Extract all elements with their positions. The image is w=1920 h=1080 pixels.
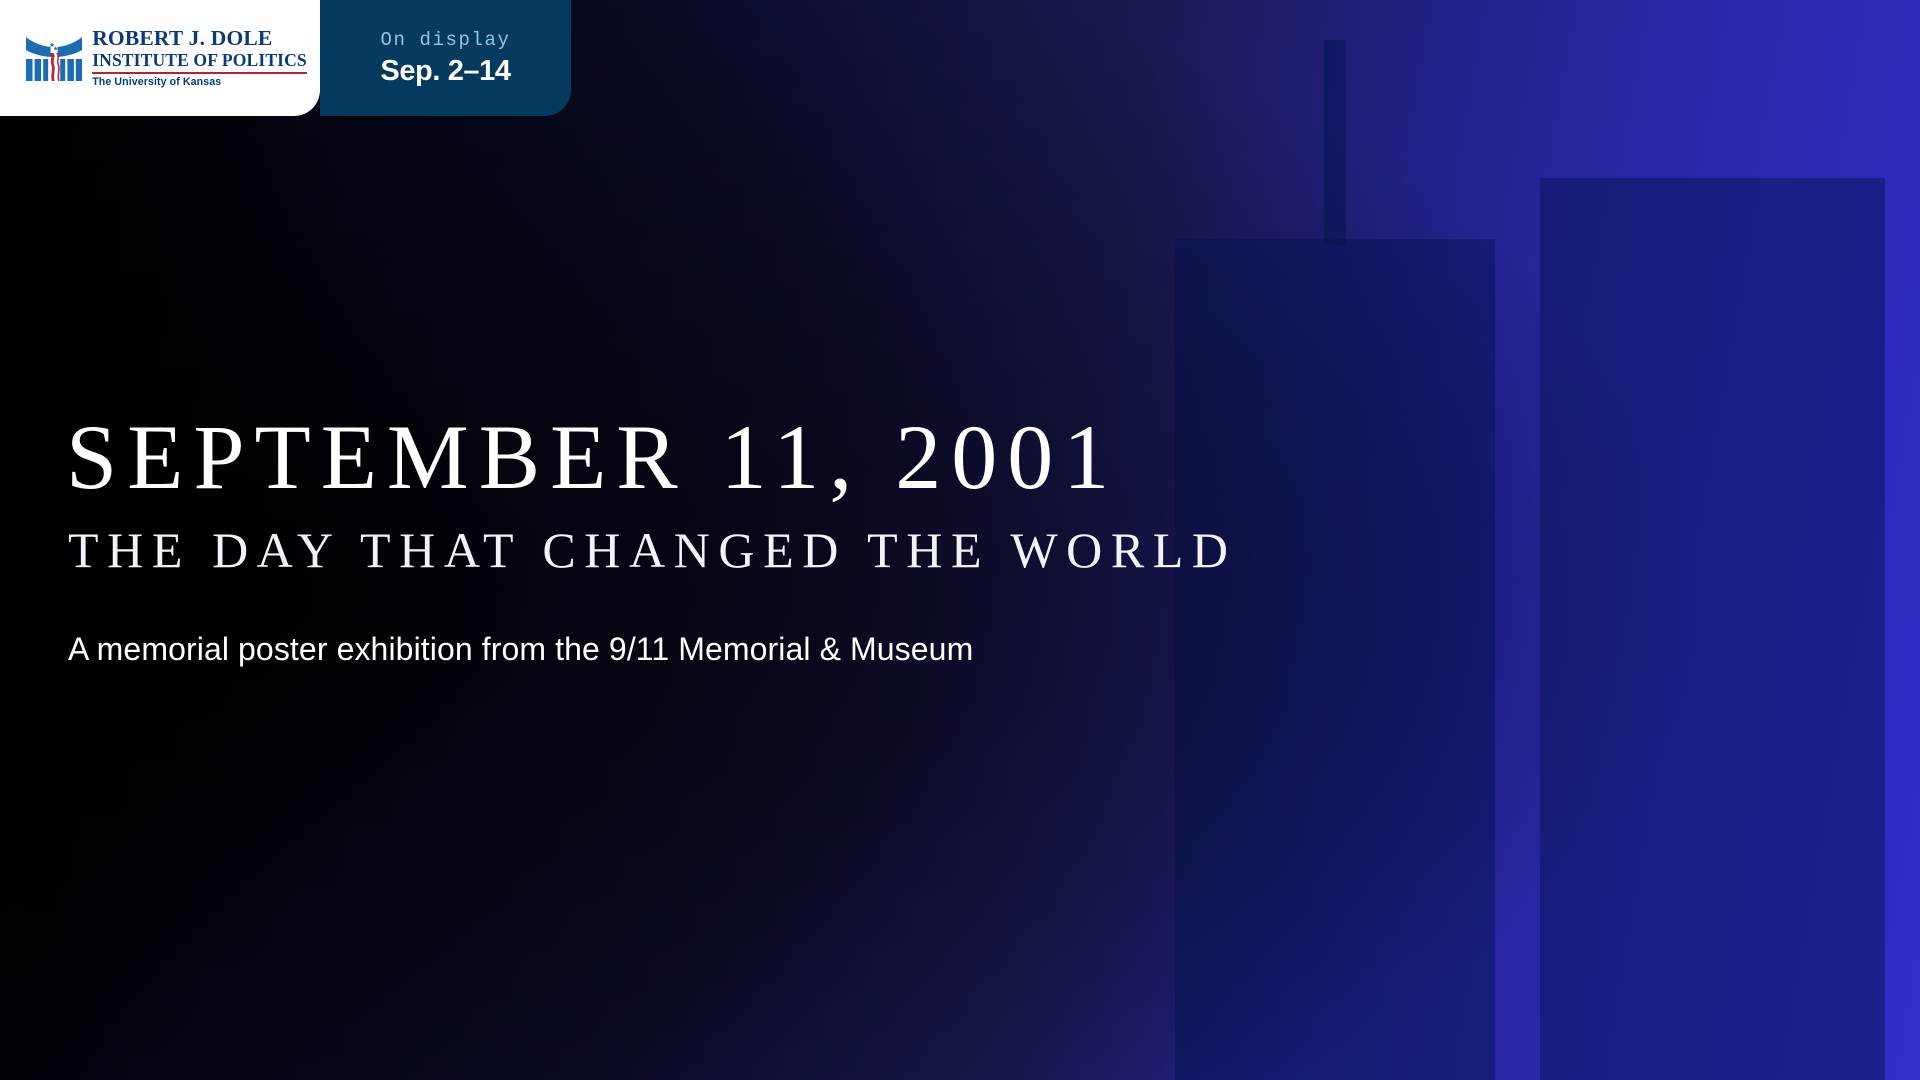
- hero-text-block: SEPTEMBER 11, 2001 THE DAY THAT CHANGED …: [66, 408, 1486, 669]
- on-display-badge: On display Sep. 2–14: [320, 0, 571, 116]
- page-description: A memorial poster exhibition from the 9/…: [68, 630, 1486, 668]
- on-display-label: On display: [380, 31, 510, 50]
- logo-divider: [92, 72, 307, 74]
- on-display-dates: Sep. 2–14: [380, 57, 510, 86]
- logo-wordmark-line2: INSTITUTE OF POLITICS: [92, 52, 307, 70]
- logo-wordmark: ROBERT J. DOLE INSTITUTE OF POLITICS The…: [92, 28, 307, 87]
- dole-institute-colonnade-logo-icon: [25, 34, 83, 82]
- page-subtitle: THE DAY THAT CHANGED THE WORLD: [68, 523, 1486, 578]
- page-title: SEPTEMBER 11, 2001: [66, 408, 1486, 507]
- tower-antenna-shape: [1324, 40, 1346, 245]
- logo-wordmark-line1: ROBERT J. DOLE: [92, 28, 307, 50]
- institute-logo-panel: ROBERT J. DOLE INSTITUTE OF POLITICS The…: [0, 0, 320, 116]
- logo-wordmark-line3: The University of Kansas: [92, 77, 307, 88]
- slide-canvas: ROBERT J. DOLE INSTITUTE OF POLITICS The…: [0, 0, 1920, 1080]
- logo-lockup: ROBERT J. DOLE INSTITUTE OF POLITICS The…: [25, 28, 307, 87]
- tower-right-shape: [1540, 178, 1885, 1080]
